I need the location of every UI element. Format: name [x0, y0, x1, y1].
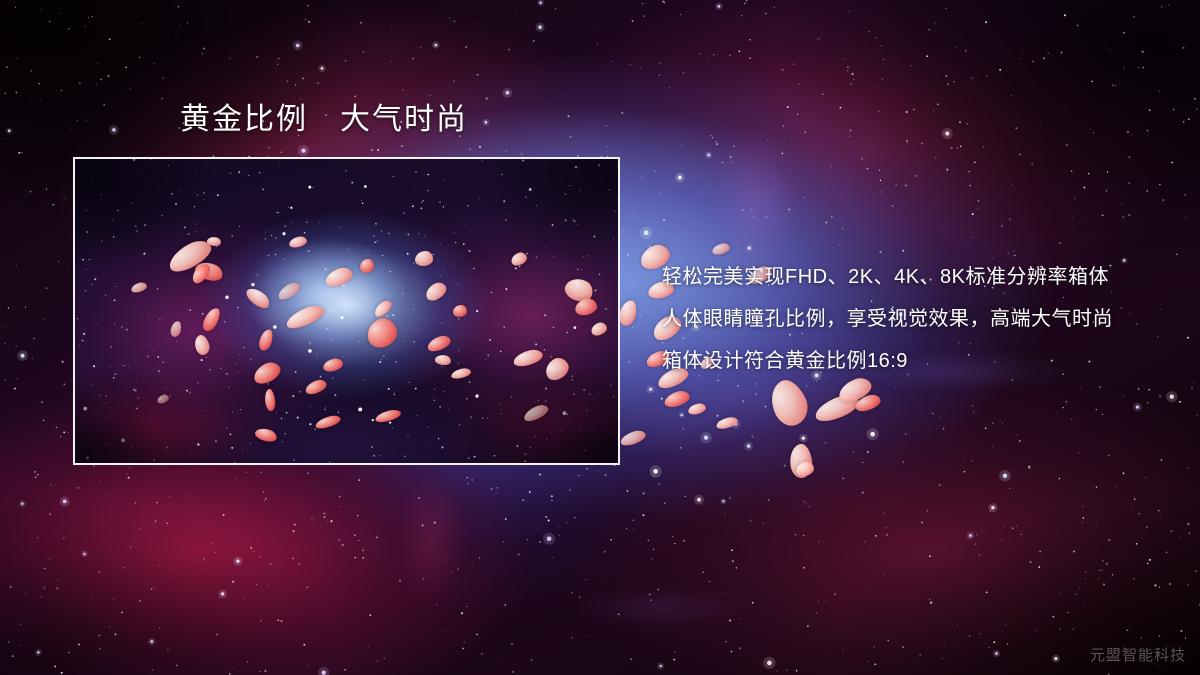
framed-image-panel — [73, 157, 620, 465]
petal — [764, 375, 815, 431]
petal — [687, 402, 707, 416]
petal — [711, 242, 731, 256]
petal — [619, 428, 647, 447]
panel-vignette — [75, 159, 618, 463]
body-line-2: 人体眼睛瞳孔比例，享受视觉效果，高端大气时尚 — [662, 298, 1162, 340]
body-line-3: 箱体设计符合黄金比例16:9 — [662, 340, 1162, 382]
petal — [715, 415, 739, 430]
presentation-slide: 黄金比例 大气时尚 轻松完美实现FHD、2K、4K、8K标准分辨率箱体 人体眼睛… — [0, 0, 1200, 675]
petal — [617, 299, 638, 328]
watermark-text: 元盟智能科技 — [1090, 644, 1186, 665]
body-line-1: 轻松完美实现FHD、2K、4K、8K标准分辨率箱体 — [662, 256, 1162, 298]
petal — [663, 389, 692, 410]
slide-title: 黄金比例 大气时尚 — [180, 101, 468, 139]
body-copy-block: 轻松完美实现FHD、2K、4K、8K标准分辨率箱体 人体眼睛瞳孔比例，享受视觉效… — [662, 256, 1162, 382]
